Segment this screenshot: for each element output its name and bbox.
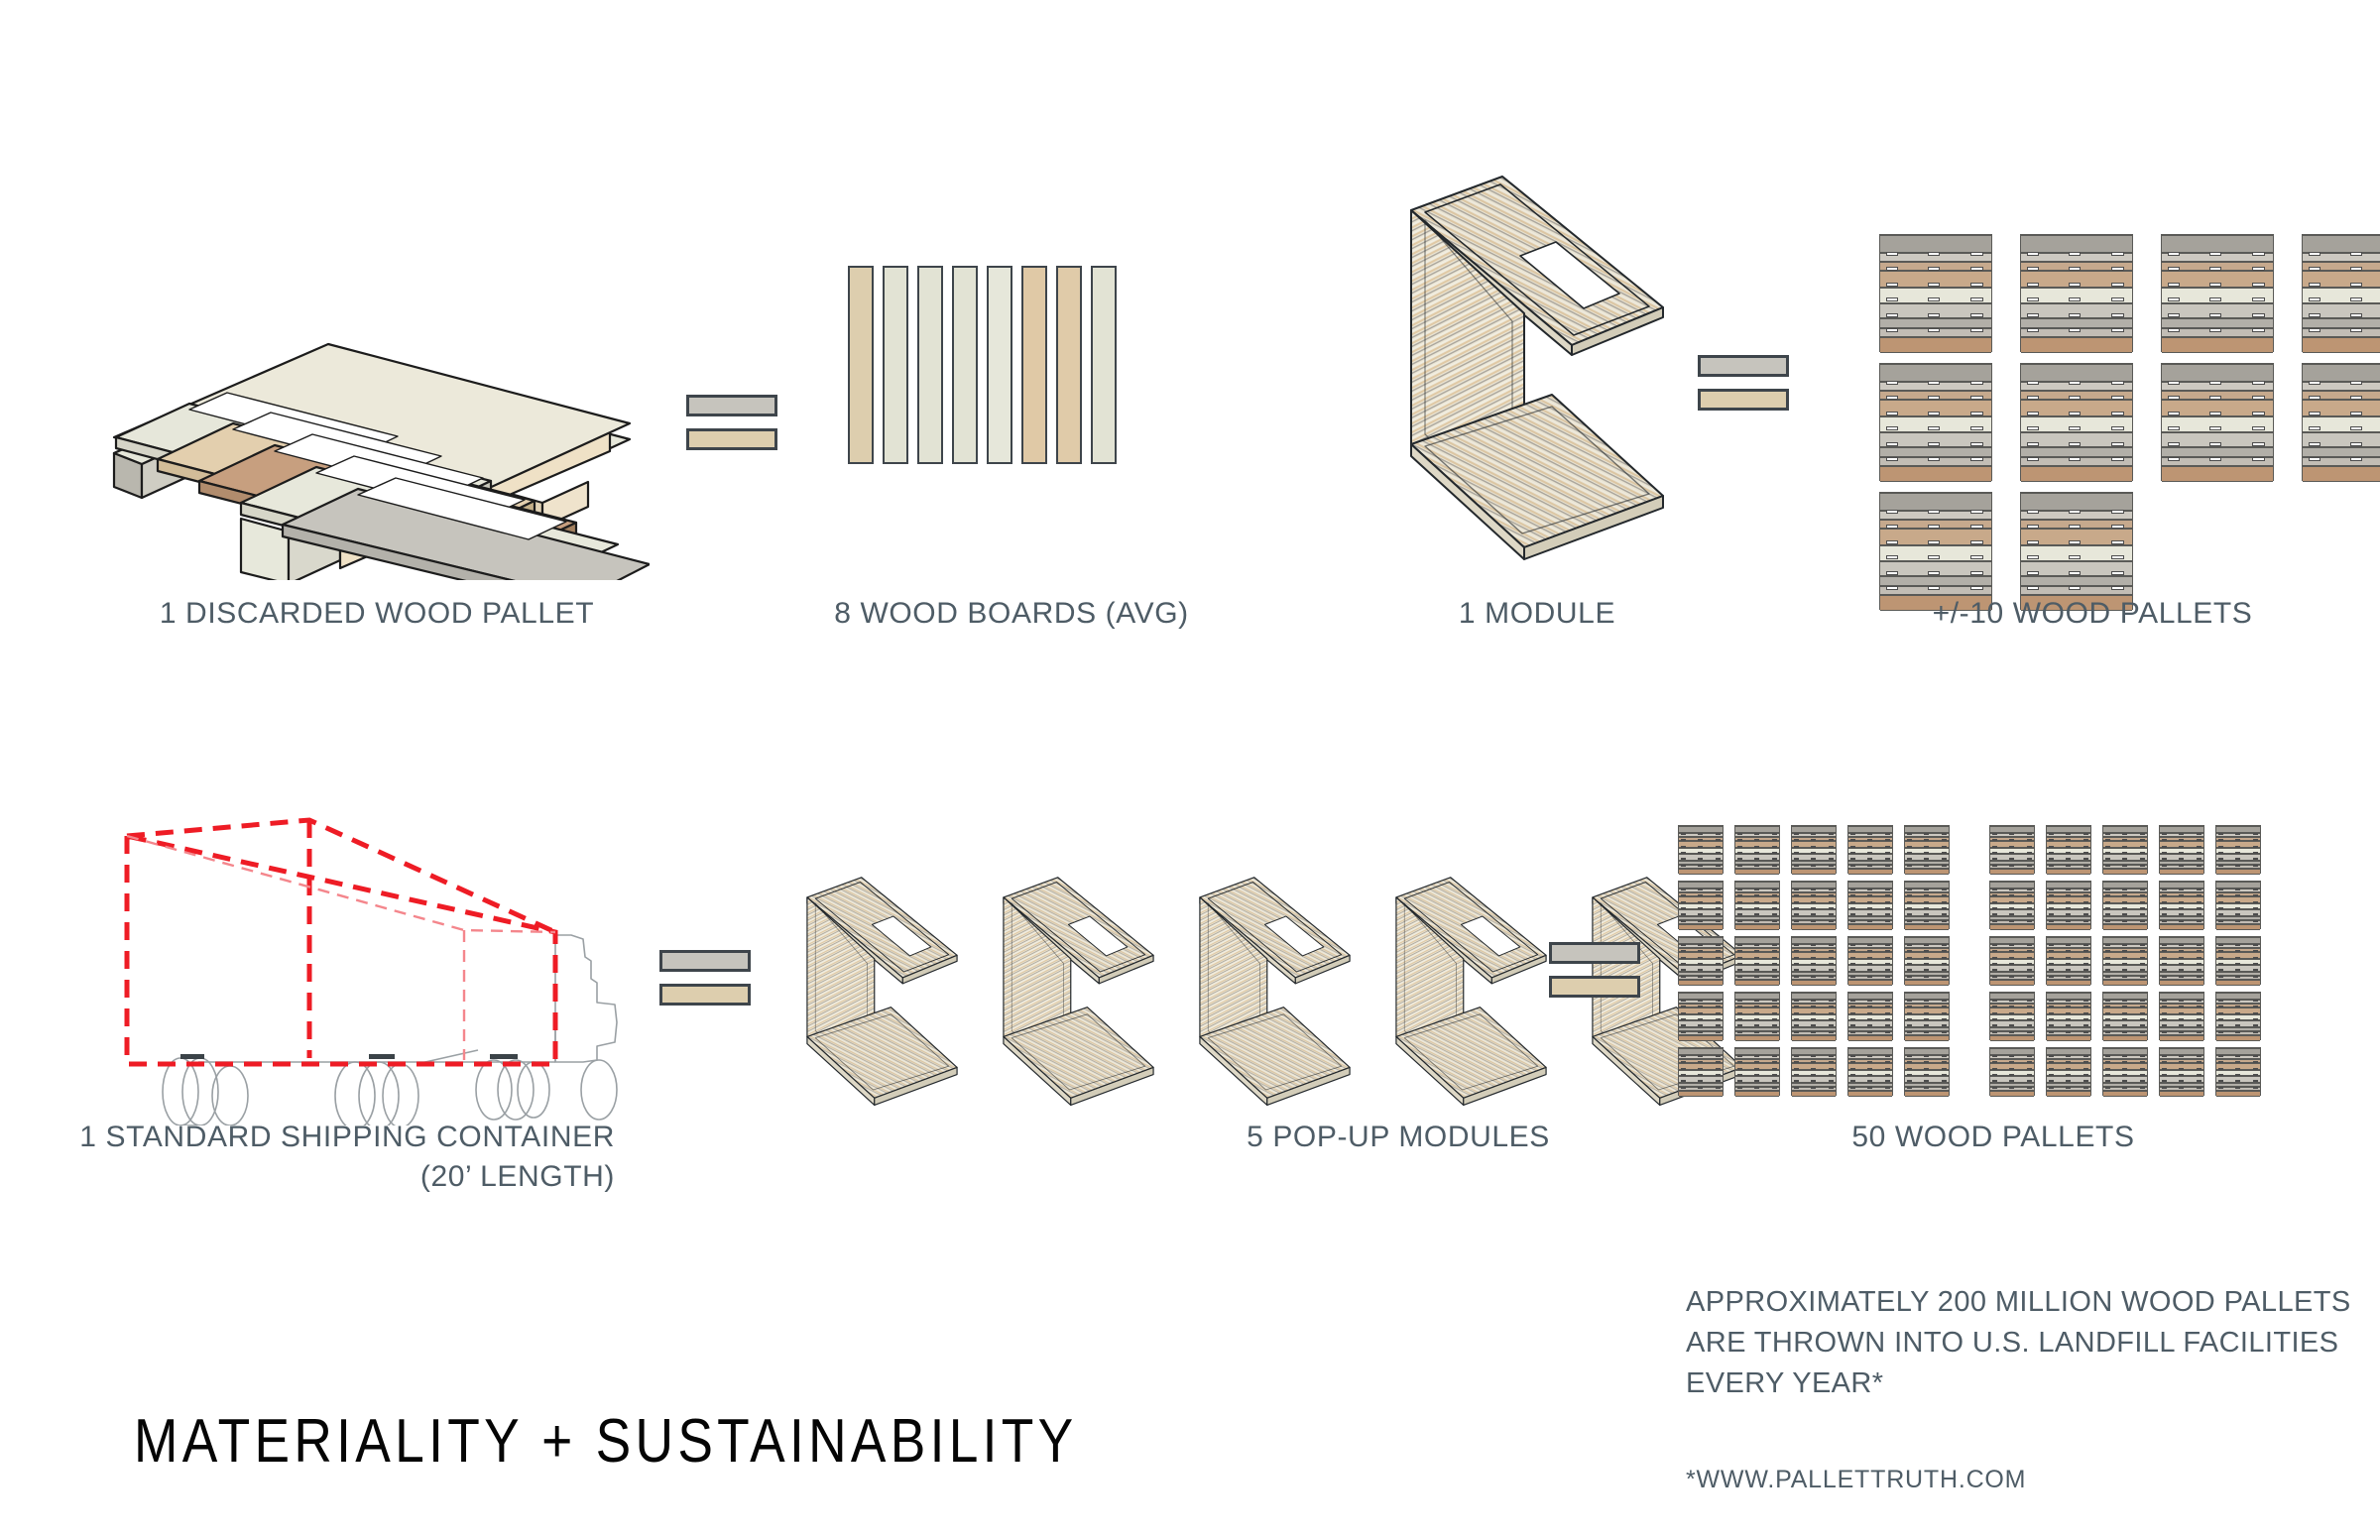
pallet-spacer-tick: [2009, 969, 2014, 971]
pallet-spacer-tick: [1924, 1074, 1929, 1076]
pallet-spacer-tick: [2140, 1080, 2145, 1082]
pallet-spacer-tick: [2083, 957, 2088, 959]
pallet-spacer-tick: [1885, 1000, 1890, 1002]
pallet-spacer-tick: [1885, 1012, 1890, 1014]
pallet-spacer-tick: [1867, 1012, 1872, 1014]
pallet-spacer-tick: [1924, 944, 1929, 946]
pallet-spacer-tick: [2235, 1087, 2240, 1089]
pallet-spacer-tick: [1924, 920, 1929, 922]
pallet-spacer-tick: [2253, 920, 2258, 922]
pop-up-module-icon: [1181, 873, 1368, 1115]
pallet-spacer-tick: [1885, 1074, 1890, 1076]
pallet-slat: [2162, 466, 2273, 482]
pallet-spacer-tick: [2105, 833, 2110, 835]
pallet-stack-icon: [1904, 936, 1950, 985]
pallet-spacer-tick: [1924, 852, 1929, 854]
pallet-spacer-tick: [2027, 328, 2040, 332]
pallet-spacer-tick: [1772, 950, 1777, 952]
pallet-spacer-tick: [2009, 976, 2014, 978]
caption-shipping-container-line1: 1 STANDARD SHIPPING CONTAINER: [59, 1119, 615, 1156]
pallet-spacer-tick: [1681, 944, 1686, 946]
pallet-spacer-tick: [2069, 396, 2082, 400]
pallet-spacer-tick: [1942, 858, 1947, 860]
pallet-spacer-tick: [2066, 1000, 2071, 1002]
pallet-spacer-tick: [1992, 1074, 1997, 1076]
pallet-spacer-tick: [2350, 328, 2363, 332]
equals-bar-tan: [659, 984, 751, 1006]
pallet-slat: [2216, 1035, 2260, 1041]
pallet-spacer-tick: [1737, 858, 1742, 860]
pallet-spacer-tick: [1754, 944, 1759, 946]
pallet-spacer-tick: [2049, 1074, 2054, 1076]
pallet-spacer-tick: [1829, 888, 1834, 890]
pallet-spacer-tick: [2105, 976, 2110, 978]
pallet-spacer-tick: [2162, 1074, 2167, 1076]
pallet-spacer-tick: [2179, 913, 2184, 915]
pallet-spacer-tick: [1928, 396, 1941, 400]
pallet-spacer-tick: [2083, 1031, 2088, 1033]
pallet-spacer-tick: [2083, 858, 2088, 860]
wood-board: [987, 266, 1012, 464]
pallet-spacer-tick: [1794, 1061, 1799, 1063]
pallet-stack-icon: [1734, 936, 1780, 985]
pallet-spacer-tick: [1737, 950, 1742, 952]
pallet-spacer-tick: [1992, 901, 1997, 903]
pallet-spacer-tick: [1811, 888, 1816, 890]
pallet-spacer-tick: [1698, 950, 1703, 952]
pallet-stack-icon: [1847, 936, 1893, 985]
pallet-spacer-tick: [2253, 1080, 2258, 1082]
pallet-spacer-tick: [2218, 852, 2223, 854]
pallet-spacer-tick: [2218, 846, 2223, 848]
pallet-spacer-tick: [2168, 313, 2181, 317]
pallet-spacer-tick: [1698, 846, 1703, 848]
pallet-spacer-tick: [1885, 894, 1890, 896]
pallet-spacer-tick: [1829, 1000, 1834, 1002]
pallet-spacer-tick: [1992, 969, 1997, 971]
pallet-spacer-tick: [2066, 1061, 2071, 1063]
pallet-spacer-tick: [2162, 913, 2167, 915]
pallet-slat: [1848, 1091, 1892, 1097]
pallet-spacer-tick: [1698, 957, 1703, 959]
pallet-stack-icon: [2302, 234, 2380, 352]
pallet-spacer-tick: [1885, 1068, 1890, 1070]
pallet-spacer-tick: [2066, 833, 2071, 835]
pallet-spacer-tick: [2218, 1055, 2223, 1057]
pallet-spacer-tick: [1698, 1031, 1703, 1033]
pallet-spacer-tick: [2179, 901, 2184, 903]
pallet-spacer-tick: [2027, 313, 2040, 317]
pallet-spacer-tick: [1907, 1006, 1912, 1007]
pallet-spacer-tick: [1716, 976, 1721, 978]
pallet-spacer-tick: [1716, 957, 1721, 959]
pallet-spacer-tick: [1867, 865, 1872, 867]
pallet-spacer-tick: [2140, 865, 2145, 867]
pallet-spacer-tick: [2168, 267, 2181, 271]
pallet-spacer-tick: [2140, 852, 2145, 854]
pallet-spacer-tick: [2162, 957, 2167, 959]
pallet-spacer-tick: [2027, 1055, 2032, 1057]
pallet-spacer-tick: [2140, 1012, 2145, 1014]
pallet-spacer-tick: [1907, 858, 1912, 860]
pallet-spacer-tick: [2049, 944, 2054, 946]
pallet-spacer-tick: [2197, 1012, 2201, 1014]
pallet-spacer-tick: [1924, 839, 1929, 841]
pallet-spacer-tick: [1698, 969, 1703, 971]
pallet-slat: [1735, 1091, 1779, 1097]
pallet-spacer-tick: [1850, 1074, 1855, 1076]
pallet-spacer-tick: [2027, 586, 2040, 590]
pallet-spacer-tick: [2069, 442, 2082, 446]
pallet-spacer-tick: [1829, 894, 1834, 896]
pallet-spacer-tick: [1772, 1031, 1777, 1033]
pallet-spacer-tick: [1886, 381, 1899, 385]
pallet-spacer-tick: [2049, 1018, 2054, 1020]
pallet-spacer-tick: [2009, 907, 2014, 909]
pallet-spacer-tick: [2253, 1031, 2258, 1033]
pallet-stack-icon: [2102, 881, 2148, 929]
pallet-spacer-tick: [2027, 412, 2040, 415]
pallet-spacer-tick: [1772, 865, 1777, 867]
pallet-slat: [1880, 235, 1991, 253]
pallet-spacer-tick: [2069, 586, 2082, 590]
pallet-spacer-tick: [1716, 858, 1721, 860]
pallet-spacer-tick: [1772, 833, 1777, 835]
pallet-spacer-tick: [2122, 1024, 2127, 1026]
pallet-spacer-tick: [1716, 901, 1721, 903]
pallet-spacer-tick: [1716, 913, 1721, 915]
pallet-spacer-tick: [2162, 976, 2167, 978]
pallet-slat: [2103, 924, 2147, 930]
pallet-spacer-tick: [1942, 907, 1947, 909]
pallet-spacer-tick: [2140, 901, 2145, 903]
pallet-spacer-tick: [2066, 846, 2071, 848]
pallet-spacer-tick: [1928, 442, 1941, 446]
pallet-spacer-tick: [1698, 1018, 1703, 1020]
pallet-spacer-tick: [2179, 1068, 2184, 1070]
pallet-slat: [1735, 980, 1779, 986]
pallet-spacer-tick: [2235, 950, 2240, 952]
pallet-spacer-tick: [2066, 1080, 2071, 1082]
pallet-spacer-tick: [2162, 907, 2167, 909]
pallet-spacer-tick: [2049, 1012, 2054, 1014]
pallet-spacer-tick: [2083, 1087, 2088, 1089]
pallet-spacer-tick: [2105, 901, 2110, 903]
pallet-spacer-tick: [2083, 894, 2088, 896]
pallet-spacer-tick: [1681, 1024, 1686, 1026]
pallet-spacer-tick: [1867, 1061, 1872, 1063]
pallet-spacer-tick: [2197, 1080, 2201, 1082]
pallet-stack-icon: [1734, 992, 1780, 1040]
pallet-spacer-tick: [2235, 1012, 2240, 1014]
pallet-spacer-tick: [2179, 907, 2184, 909]
pallet-spacer-tick: [2209, 267, 2222, 271]
pallet-spacer-tick: [1737, 1000, 1742, 1002]
pallet-spacer-tick: [2235, 901, 2240, 903]
pallet-spacer-tick: [2122, 1074, 2127, 1076]
pallet-spacer-tick: [2252, 297, 2265, 301]
pallet-spacer-tick: [2235, 907, 2240, 909]
pallet-spacer-tick: [2179, 858, 2184, 860]
pallet-spacer-tick: [1737, 1012, 1742, 1014]
pallet-spacer-tick: [1928, 571, 1941, 575]
pallet-spacer-tick: [2235, 846, 2240, 848]
pallet-spacer-tick: [1942, 1000, 1947, 1002]
pallet-spacer-tick: [1716, 1087, 1721, 1089]
pallet-spacer-tick: [2253, 858, 2258, 860]
pallet-slat: [1848, 869, 1892, 875]
pallet-spacer-tick: [2209, 297, 2222, 301]
pallet-spacer-tick: [1794, 901, 1799, 903]
pallet-spacer-tick: [2179, 944, 2184, 946]
pallet-slat: [1679, 1091, 1723, 1097]
pallet-spacer-tick: [1772, 969, 1777, 971]
pallet-spacer-tick: [1754, 913, 1759, 915]
pallet-spacer-tick: [2049, 894, 2054, 896]
pallet-spacer-tick: [1829, 1061, 1834, 1063]
pallet-spacer-tick: [2235, 894, 2240, 896]
pallet-spacer-tick: [1885, 976, 1890, 978]
caption-1-module: 1 MODULE: [1309, 595, 1765, 633]
pallet-spacer-tick: [1829, 976, 1834, 978]
pallet-spacer-tick: [1907, 852, 1912, 854]
pallet-spacer-tick: [2105, 858, 2110, 860]
pallet-slat: [1792, 1035, 1836, 1041]
pallet-spacer-tick: [1907, 839, 1912, 841]
pallet-spacer-tick: [1811, 1087, 1816, 1089]
pallet-spacer-tick: [1772, 894, 1777, 896]
pallet-spacer-tick: [2083, 920, 2088, 922]
pallet-spacer-tick: [2083, 963, 2088, 965]
pallet-spacer-tick: [2162, 865, 2167, 867]
pallet-slat: [1880, 447, 1991, 457]
pallet-spacer-tick: [2168, 252, 2181, 256]
pallet-spacer-tick: [1737, 1006, 1742, 1007]
pallet-spacer-tick: [2218, 833, 2223, 835]
pallet-spacer-tick: [2162, 1061, 2167, 1063]
pallet-spacer-tick: [1924, 858, 1929, 860]
pallet-spacer-tick: [2168, 381, 2181, 385]
pallet-spacer-tick: [2111, 396, 2124, 400]
pallet-spacer-tick: [1992, 963, 1997, 965]
pallet-spacer-tick: [1924, 1000, 1929, 1002]
pallet-spacer-tick: [1829, 901, 1834, 903]
pallet-spacer-tick: [1681, 1068, 1686, 1070]
pallet-spacer-tick: [2049, 920, 2054, 922]
pallet-spacer-tick: [1754, 907, 1759, 909]
pallet-spacer-tick: [2122, 950, 2127, 952]
pallet-spacer-tick: [2083, 950, 2088, 952]
pallet-spacer-tick: [1924, 865, 1929, 867]
pallet-stack-icon: [1989, 936, 2035, 985]
pallet-spacer-tick: [1907, 846, 1912, 848]
pallet-spacer-tick: [1737, 976, 1742, 978]
wood-board: [848, 266, 874, 464]
pallet-spacer-tick: [1928, 328, 1941, 332]
pallet-slat: [2160, 869, 2203, 875]
pallet-spacer-tick: [2027, 852, 2032, 854]
pallet-spacer-tick: [1737, 1055, 1742, 1057]
pallet-spacer-tick: [1850, 858, 1855, 860]
pallet-slat: [1990, 1035, 2034, 1041]
pallet-spacer-tick: [1867, 1055, 1872, 1057]
pallet-spacer-tick: [1737, 865, 1742, 867]
pallet-spacer-tick: [2209, 328, 2222, 332]
pallet-spacer-tick: [2049, 901, 2054, 903]
pallet-spacer-tick: [1886, 510, 1899, 514]
pallet-spacer-tick: [2069, 571, 2082, 575]
pallet-spacer-tick: [2066, 976, 2071, 978]
pallet-spacer-tick: [1928, 267, 1941, 271]
equals-bar-tan: [1698, 389, 1789, 411]
pallet-spacer-tick: [2066, 1055, 2071, 1057]
pallet-spacer-tick: [1867, 950, 1872, 952]
equals-bar-grey: [1698, 355, 1789, 377]
pallet-spacer-tick: [2197, 888, 2201, 890]
pallet-spacer-tick: [1928, 412, 1941, 415]
pallet-spacer-tick: [2009, 1000, 2014, 1002]
pallet-spacer-tick: [1924, 833, 1929, 835]
pallet-spacer-tick: [2253, 865, 2258, 867]
pallet-spacer-tick: [1754, 1080, 1759, 1082]
pallet-spacer-tick: [1754, 920, 1759, 922]
pallet-spacer-tick: [1811, 1012, 1816, 1014]
pallet-spacer-tick: [1928, 283, 1941, 287]
pallet-spacer-tick: [2027, 944, 2032, 946]
pallet-slat: [2303, 447, 2380, 457]
pallet-spacer-tick: [1716, 1031, 1721, 1033]
pallet-slat: [1880, 364, 1991, 382]
pallet-spacer-tick: [2027, 283, 2040, 287]
pallet-spacer-tick: [1992, 1068, 1997, 1070]
pallet-spacer-tick: [2009, 1012, 2014, 1014]
shipping-container-truck-icon: [89, 798, 645, 1130]
pallet-spacer-tick: [1754, 1012, 1759, 1014]
pallet-stack-icon: [1879, 492, 1992, 610]
pallet-slat: [1990, 1091, 2034, 1097]
pallet-spacer-tick: [2027, 888, 2032, 890]
pallet-spacer-tick: [2083, 1080, 2088, 1082]
pallet-spacer-tick: [2009, 1055, 2014, 1057]
pallet-spacer-tick: [2179, 1024, 2184, 1026]
pallet-spacer-tick: [1681, 839, 1686, 841]
pallet-spacer-tick: [2027, 1024, 2032, 1026]
pallet-spacer-tick: [2140, 913, 2145, 915]
pallet-spacer-tick: [1885, 1061, 1890, 1063]
pallet-spacer-tick: [2253, 957, 2258, 959]
pallet-spacer-tick: [1754, 1055, 1759, 1057]
pallet-spacer-tick: [1681, 888, 1686, 890]
pallet-spacer-tick: [1992, 852, 1997, 854]
pallet-spacer-tick: [1716, 1061, 1721, 1063]
pallet-spacer-tick: [2179, 920, 2184, 922]
pallet-spacer-tick: [2140, 858, 2145, 860]
pallet-spacer-tick: [2069, 267, 2082, 271]
pallet-spacer-tick: [2069, 328, 2082, 332]
pallet-spacer-tick: [1907, 1018, 1912, 1020]
pallet-spacer-tick: [1681, 1087, 1686, 1089]
pallet-slat: [1679, 869, 1723, 875]
pallet-spacer-tick: [2179, 950, 2184, 952]
pallet-spacer-tick: [1829, 913, 1834, 915]
pallet-spacer-tick: [1970, 426, 1983, 430]
pallet-spacer-tick: [1772, 907, 1777, 909]
pallet-spacer-tick: [2253, 894, 2258, 896]
pallet-spacer-tick: [1924, 1055, 1929, 1057]
pallet-spacer-tick: [2083, 944, 2088, 946]
pallet-spacer-tick: [2162, 888, 2167, 890]
pallet-spacer-tick: [1867, 1006, 1872, 1007]
pallet-slat: [1792, 869, 1836, 875]
pallet-spacer-tick: [1924, 976, 1929, 978]
pallet-spacer-tick: [1811, 894, 1816, 896]
pallet-spacer-tick: [2209, 252, 2222, 256]
pallet-stack-icon: [2161, 234, 2274, 352]
pallet-spacer-tick: [2235, 1080, 2240, 1082]
pallet-spacer-tick: [2027, 555, 2040, 559]
pallet-spacer-tick: [2122, 969, 2127, 971]
pallet-spacer-tick: [1992, 894, 1997, 896]
pallet-spacer-tick: [2069, 426, 2082, 430]
pallet-spacer-tick: [1772, 913, 1777, 915]
pallet-spacer-tick: [1867, 846, 1872, 848]
pallet-stack-icon: [2046, 881, 2091, 929]
pallet-spacer-tick: [2309, 396, 2321, 400]
pallet-slat: [2216, 924, 2260, 930]
pallet-spacer-tick: [1754, 1018, 1759, 1020]
pallet-spacer-tick: [1772, 1006, 1777, 1007]
pallet-spacer-tick: [1867, 1074, 1872, 1076]
pallet-spacer-tick: [1992, 858, 1997, 860]
pallet-spacer-tick: [2253, 1018, 2258, 1020]
pallet-spacer-tick: [1850, 1061, 1855, 1063]
pallet-spacer-tick: [1681, 833, 1686, 835]
pallet-spacer-tick: [2140, 957, 2145, 959]
pallet-spacer-tick: [1811, 839, 1816, 841]
pallet-spacer-tick: [2235, 1074, 2240, 1076]
pallet-spacer-tick: [1772, 888, 1777, 890]
pallet-spacer-tick: [2252, 442, 2265, 446]
pallet-slat: [2162, 318, 2273, 328]
pallet-spacer-tick: [1829, 950, 1834, 952]
pallet-spacer-tick: [1811, 1018, 1816, 1020]
pallet-spacer-tick: [1867, 1080, 1872, 1082]
pallet-spacer-tick: [1867, 1068, 1872, 1070]
pallet-spacer-tick: [1716, 833, 1721, 835]
pallet-spacer-tick: [2252, 426, 2265, 430]
pallet-spacer-tick: [1772, 901, 1777, 903]
pallet-spacer-tick: [1737, 944, 1742, 946]
pallet-spacer-tick: [1681, 963, 1686, 965]
pallet-spacer-tick: [2218, 957, 2223, 959]
pallet-spacer-tick: [2027, 833, 2032, 835]
pallet-spacer-tick: [2350, 267, 2363, 271]
pallet-spacer-tick: [1867, 907, 1872, 909]
pallet-stack-icon: [2215, 1047, 2261, 1096]
pallet-spacer-tick: [2083, 976, 2088, 978]
pallet-spacer-tick: [1754, 1006, 1759, 1007]
pallet-spacer-tick: [1992, 920, 1997, 922]
pallet-spacer-tick: [2252, 412, 2265, 415]
pallet-spacer-tick: [1772, 957, 1777, 959]
wood-board: [917, 266, 943, 464]
pallet-spacer-tick: [1924, 907, 1929, 909]
pallet-spacer-tick: [2027, 976, 2032, 978]
pallet-spacer-tick: [2027, 267, 2040, 271]
pallet-spacer-tick: [1907, 1055, 1912, 1057]
pallet-spacer-tick: [1811, 963, 1816, 965]
pallet-stack-icon: [1678, 992, 1724, 1040]
